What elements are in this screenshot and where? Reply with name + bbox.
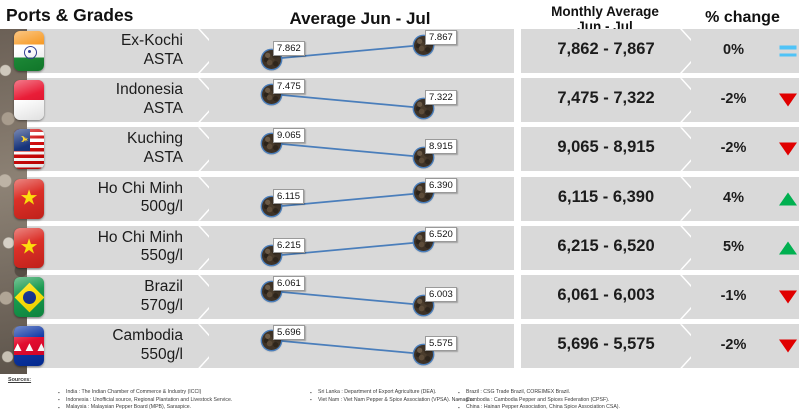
header-average-jun-jul: Average Jun - Jul [245, 10, 475, 28]
data-label-jun: 6.061 [273, 276, 305, 291]
header-monthly-average-line1: Monthly Average [520, 5, 690, 20]
port-name: Ho Chi Minh [98, 229, 183, 248]
data-label-jul: 6.520 [425, 227, 457, 242]
trend-indicator-cell [776, 226, 799, 270]
trend-indicator-cell [776, 275, 799, 319]
arrow-down-icon [779, 94, 797, 107]
port-name: Kuching [127, 130, 183, 149]
star-glyph: ★ [20, 236, 39, 257]
pct-change-cell: 4% [691, 177, 776, 221]
port-name: Ho Chi Minh [98, 180, 183, 199]
data-label-jun: 7.475 [273, 79, 305, 94]
trend-indicator-cell [776, 127, 799, 171]
pct-change-cell: -2% [691, 78, 776, 122]
brazil-flag [14, 277, 44, 317]
pct-change-cell: -2% [691, 324, 776, 368]
pct-change-value: -2% [691, 91, 776, 107]
port-name: Cambodia [112, 327, 183, 346]
vietnam-flag: ★ [14, 228, 44, 268]
pepper-price-dashboard: Ports & Grades Average Jun - Jul Monthly… [0, 0, 799, 419]
table-row[interactable]: Ho Chi Minh500g/l★6.1156.3906,115 - 6,39… [0, 177, 799, 221]
grade-name: ASTA [116, 100, 183, 119]
pct-change-value: 5% [691, 239, 776, 255]
data-label-jul: 7.322 [425, 90, 457, 105]
sparkline-cell: 7.8627.867 [209, 29, 514, 73]
arrow-down-icon [779, 340, 797, 353]
monthly-average-cell: 7,862 - 7,867 [521, 29, 691, 73]
grade-name: ASTA [121, 51, 183, 70]
trend-indicator-cell [776, 324, 799, 368]
data-label-jun: 6.215 [273, 238, 305, 253]
arrow-up-icon [779, 241, 797, 254]
source-item: China : Hainan Pepper Association, China… [458, 404, 758, 411]
header-ports-grades: Ports & Grades [6, 6, 196, 25]
angkor-glyph: ▲▲▲ [14, 340, 44, 353]
monthly-average-cell: 9,065 - 8,915 [521, 127, 691, 171]
port-grade-cell: KuchingASTA [27, 127, 209, 171]
pct-change-cell: 0% [691, 29, 776, 73]
pct-change-value: -2% [691, 337, 776, 353]
monthly-average-value: 7,475 - 7,322 [521, 89, 691, 108]
trend-indicator-cell [776, 177, 799, 221]
monthly-average-cell: 7,475 - 7,322 [521, 78, 691, 122]
cambodia-flag: ▲▲▲ [14, 326, 44, 366]
port-grade-cell: IndonesiaASTA [27, 78, 209, 122]
monthly-average-value: 7,862 - 7,867 [521, 40, 691, 59]
data-label-jun: 7.862 [273, 41, 305, 56]
data-label-jul: 5.575 [425, 336, 457, 351]
sparkline-svg [209, 324, 514, 368]
table-row[interactable]: Ex-KochiASTA7.8627.8677,862 - 7,8670% [0, 29, 799, 73]
monthly-average-value: 5,696 - 5,575 [521, 335, 691, 354]
port-grade-label: Ho Chi Minh550g/l [98, 229, 183, 266]
sparkline-svg [209, 177, 514, 221]
pct-change-value: 4% [691, 190, 776, 206]
sparkline-cell: 6.2156.520 [209, 226, 514, 270]
sources-block: Sources: India : The Indian Chamber of C… [8, 377, 792, 384]
grade-name: 550g/l [112, 346, 183, 365]
arrow-down-icon [779, 143, 797, 156]
monthly-average-cell: 6,061 - 6,003 [521, 275, 691, 319]
port-name: Indonesia [116, 81, 183, 100]
pct-change-value: -2% [691, 140, 776, 156]
monthly-average-value: 6,115 - 6,390 [521, 188, 691, 207]
arrow-down-icon [779, 291, 797, 304]
port-grade-cell: Cambodia550g/l [27, 324, 209, 368]
data-label-jul: 6.003 [425, 287, 457, 302]
india-flag [14, 31, 44, 71]
port-grade-label: Ho Chi Minh500g/l [98, 180, 183, 217]
grade-name: ASTA [127, 149, 183, 168]
table-row[interactable]: Brazil570g/l6.0616.0036,061 - 6,003-1% [0, 275, 799, 319]
port-name: Ex-Kochi [121, 32, 183, 51]
sparkline-cell: 5.6965.575 [209, 324, 514, 368]
port-grade-label: KuchingASTA [127, 130, 183, 167]
table-row[interactable]: Ho Chi Minh550g/l★6.2156.5206,215 - 6,52… [0, 226, 799, 270]
monthly-average-value: 6,215 - 6,520 [521, 237, 691, 256]
sources-title: Sources: [8, 377, 792, 384]
port-grade-cell: Ex-KochiASTA [27, 29, 209, 73]
trend-indicator-cell [776, 29, 799, 73]
table-row[interactable]: IndonesiaASTA7.4757.3227,475 - 7,322-2% [0, 78, 799, 122]
pct-change-cell: 5% [691, 226, 776, 270]
pct-change-cell: -2% [691, 127, 776, 171]
port-grade-cell: Ho Chi Minh550g/l [27, 226, 209, 270]
source-item: Cambodia : Cambodia Pepper and Spices Fe… [458, 397, 758, 404]
monthly-average-value: 6,061 - 6,003 [521, 286, 691, 305]
trend-indicator-cell [776, 78, 799, 122]
monthly-average-cell: 6,215 - 6,520 [521, 226, 691, 270]
grade-name: 550g/l [98, 247, 183, 266]
data-label-jul: 8.915 [425, 139, 457, 154]
data-label-jun: 5.696 [273, 325, 305, 340]
header-pct-change: % change [690, 9, 795, 26]
port-grade-label: IndonesiaASTA [116, 81, 183, 118]
sparkline-cell: 6.1156.390 [209, 177, 514, 221]
sparkline-svg [209, 127, 514, 171]
sparkline-cell: 9.0658.915 [209, 127, 514, 171]
monthly-average-value: 9,065 - 8,915 [521, 138, 691, 157]
table-row[interactable]: KuchingASTA✶9.0658.9159,065 - 8,915-2% [0, 127, 799, 171]
pct-change-value: 0% [691, 42, 776, 58]
sparkline-svg [209, 78, 514, 122]
data-label-jun: 6.115 [273, 189, 304, 204]
grade-name: 570g/l [141, 297, 183, 316]
vietnam-flag: ★ [14, 179, 44, 219]
indonesia-flag [14, 80, 44, 120]
monthly-average-cell: 6,115 - 6,390 [521, 177, 691, 221]
sources-column-3: Brazil : CSG Trade Brazil, COREIMEX Braz… [418, 389, 758, 411]
ashoka-chakra [24, 46, 37, 59]
data-label-jun: 9.065 [273, 128, 305, 143]
equals-icon [779, 46, 796, 57]
grade-name: 500g/l [98, 198, 183, 217]
port-grade-label: Brazil570g/l [141, 278, 183, 315]
star-glyph: ★ [20, 187, 39, 208]
port-grade-cell: Ho Chi Minh500g/l [27, 177, 209, 221]
port-grade-label: Cambodia550g/l [112, 327, 183, 364]
table-row[interactable]: Cambodia550g/l▲▲▲5.6965.5755,696 - 5,575… [0, 324, 799, 368]
pct-change-value: -1% [691, 288, 776, 304]
data-label-jul: 7.867 [425, 30, 457, 45]
sparkline-svg [209, 29, 514, 73]
sparkline-cell: 7.4757.322 [209, 78, 514, 122]
malaysia-flag: ✶ [14, 129, 44, 169]
sparkline-svg [209, 226, 514, 270]
source-item: Brazil : CSG Trade Brazil, COREIMEX Braz… [458, 389, 758, 396]
sparkline-cell: 6.0616.003 [209, 275, 514, 319]
sparkline-svg [209, 275, 514, 319]
port-grade-label: Ex-KochiASTA [121, 32, 183, 69]
sources-column-1: India : The Indian Chamber of Commerce &… [18, 389, 308, 411]
port-name: Brazil [141, 278, 183, 297]
pct-change-cell: -1% [691, 275, 776, 319]
port-grade-cell: Brazil570g/l [27, 275, 209, 319]
monthly-average-cell: 5,696 - 5,575 [521, 324, 691, 368]
data-label-jul: 6.390 [425, 178, 457, 193]
arrow-up-icon [779, 192, 797, 205]
source-item: Malaysia : Malaysian Pepper Board (MPB),… [58, 404, 308, 411]
